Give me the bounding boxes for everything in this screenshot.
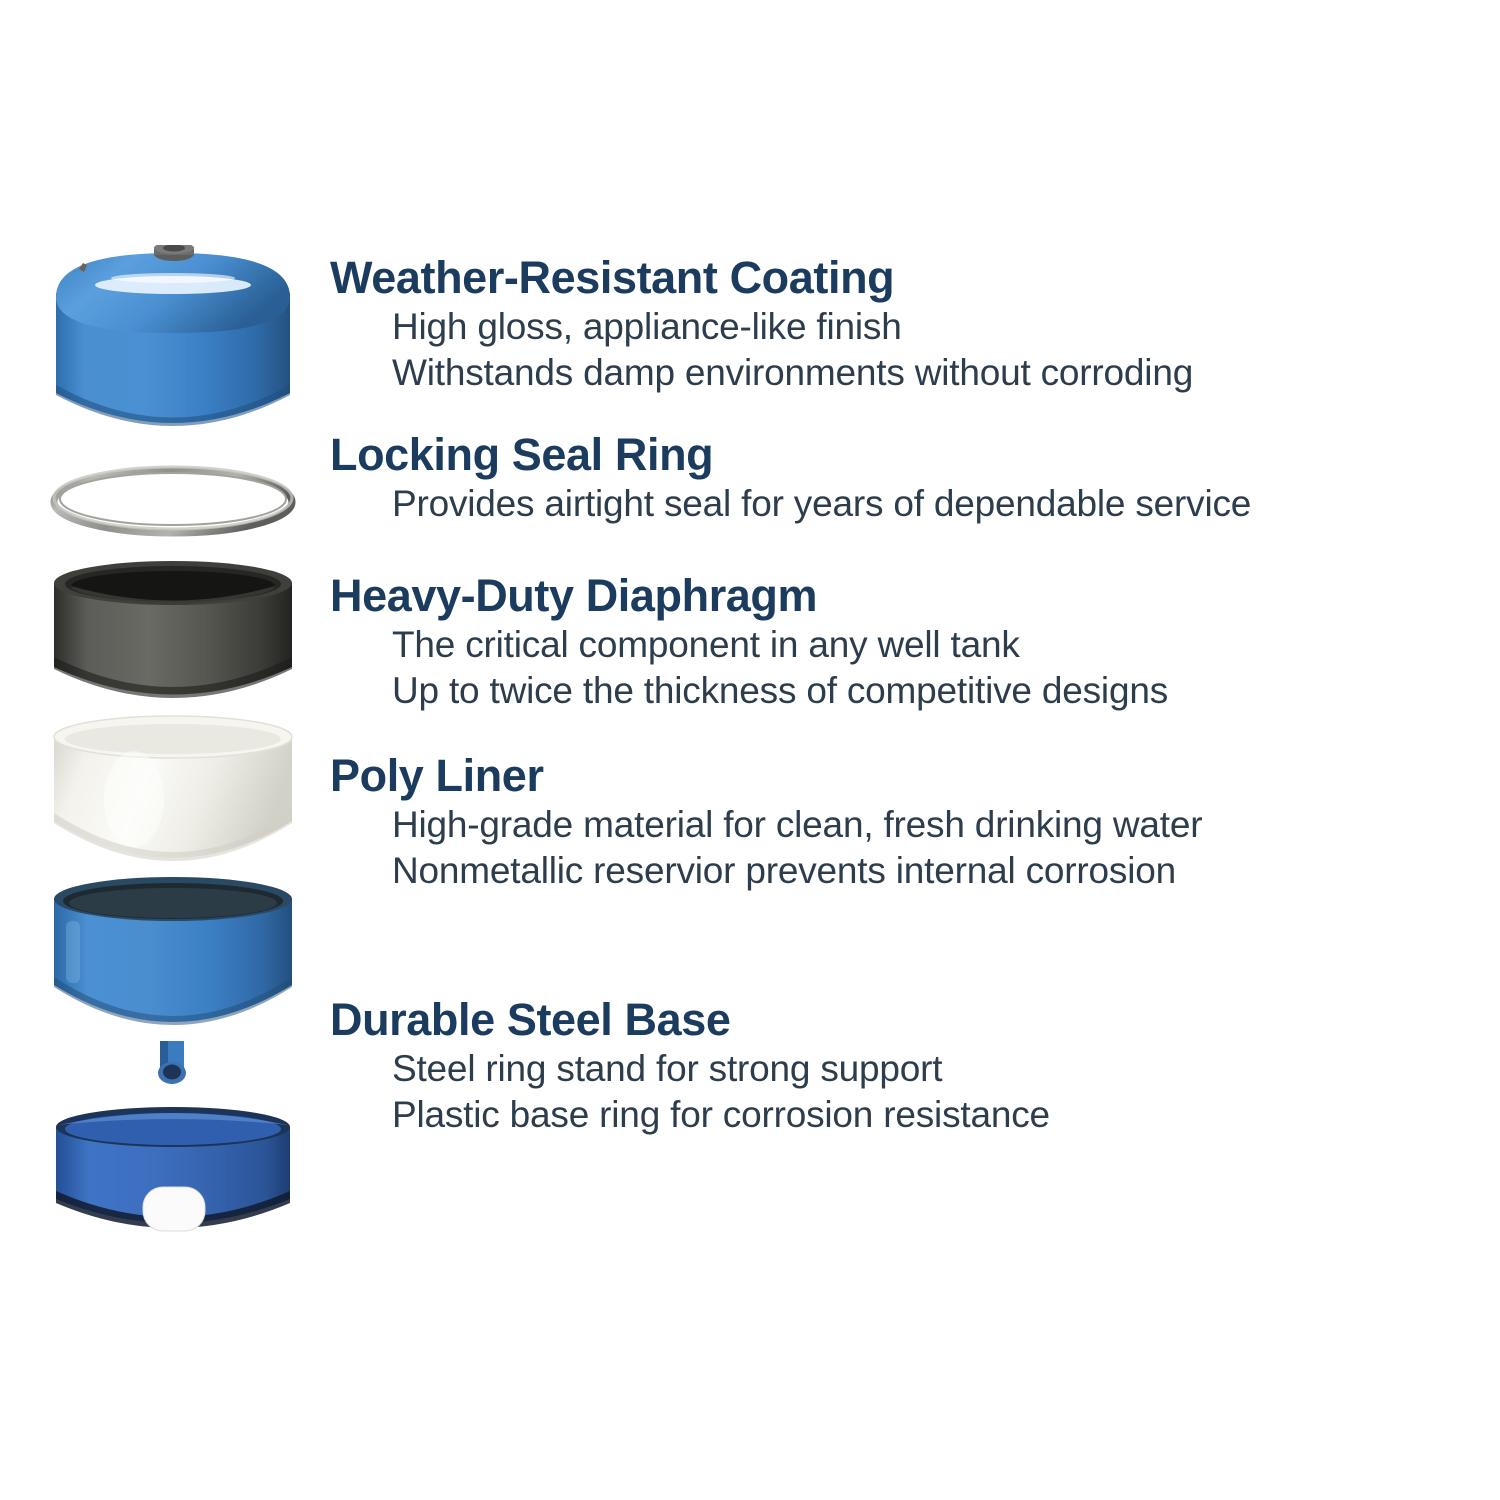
part-steel-base-ring xyxy=(48,1103,298,1251)
part-metal-seal-ring xyxy=(48,458,298,543)
feature-heading: Weather-Resistant Coating xyxy=(330,252,1460,304)
feature-heading: Poly Liner xyxy=(330,750,1460,802)
blue-dome-top-icon xyxy=(48,245,298,455)
feature-description: Provides airtight seal for years of depe… xyxy=(330,481,1460,527)
part-blue-tank-bottom xyxy=(48,873,298,1088)
feature-line: Nonmetallic reservior prevents internal … xyxy=(392,848,1460,894)
exploded-parts-diagram xyxy=(48,245,298,1250)
blue-tank-bottom-icon xyxy=(48,873,298,1088)
feature-description: Steel ring stand for strong support Plas… xyxy=(330,1046,1460,1138)
feature-description: High gloss, appliance-like finish Withst… xyxy=(330,304,1460,396)
feature-line: High-grade material for clean, fresh dri… xyxy=(392,802,1460,848)
feature-line: The critical component in any well tank xyxy=(392,622,1460,668)
steel-base-ring-icon xyxy=(48,1103,298,1251)
metal-seal-ring-icon xyxy=(48,458,298,543)
feature-line: Up to twice the thickness of competitive… xyxy=(392,668,1460,714)
product-feature-infographic: Weather-Resistant Coating High gloss, ap… xyxy=(0,0,1500,1500)
feature-heading: Locking Seal Ring xyxy=(330,429,1460,481)
feature-block-weather-resistant-coating: Weather-Resistant Coating High gloss, ap… xyxy=(330,252,1460,396)
feature-block-poly-liner: Poly Liner High-grade material for clean… xyxy=(330,750,1460,894)
feature-block-heavy-duty-diaphragm: Heavy-Duty Diaphragm The critical compon… xyxy=(330,570,1460,714)
feature-heading: Durable Steel Base xyxy=(330,994,1460,1046)
feature-line: High gloss, appliance-like finish xyxy=(392,304,1460,350)
feature-line: Provides airtight seal for years of depe… xyxy=(392,481,1460,527)
feature-heading: Heavy-Duty Diaphragm xyxy=(330,570,1460,622)
feature-description: The critical component in any well tank … xyxy=(330,622,1460,714)
feature-line: Withstands damp environments without cor… xyxy=(392,350,1460,396)
part-poly-liner xyxy=(48,713,298,888)
part-blue-dome-top xyxy=(48,245,298,455)
part-rubber-diaphragm xyxy=(48,557,298,717)
feature-block-locking-seal-ring: Locking Seal Ring Provides airtight seal… xyxy=(330,429,1460,527)
feature-line: Plastic base ring for corrosion resistan… xyxy=(392,1092,1460,1138)
feature-line: Steel ring stand for strong support xyxy=(392,1046,1460,1092)
feature-block-durable-steel-base: Durable Steel Base Steel ring stand for … xyxy=(330,994,1460,1138)
feature-description: High-grade material for clean, fresh dri… xyxy=(330,802,1460,894)
rubber-diaphragm-icon xyxy=(48,557,298,717)
poly-liner-icon xyxy=(48,713,298,888)
